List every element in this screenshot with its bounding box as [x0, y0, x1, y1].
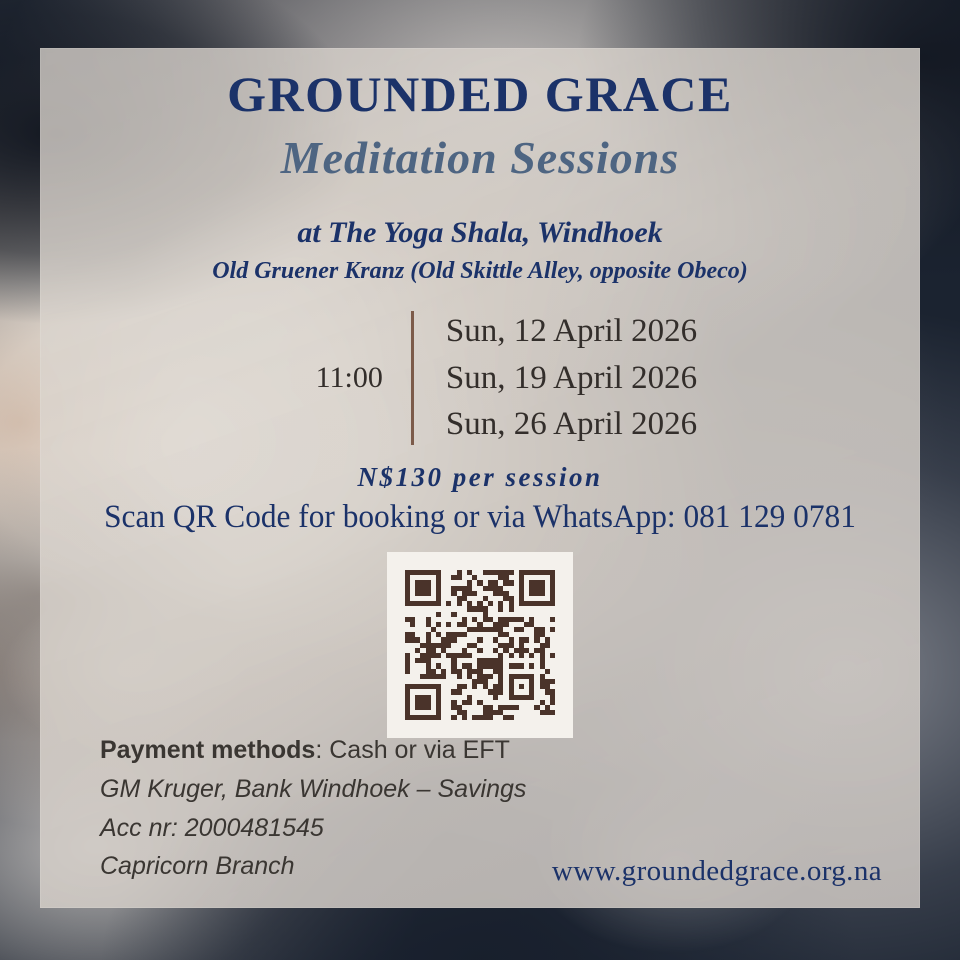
flyer-card: GROUNDED GRACE Meditation Sessions at Th… — [40, 48, 920, 908]
venue-address: Old Gruener Kranz (Old Skittle Alley, op… — [40, 251, 920, 286]
qr-code-modules — [405, 570, 555, 720]
page-subtitle: Meditation Sessions — [40, 122, 920, 185]
qr-code[interactable] — [387, 552, 573, 738]
session-date: Sun, 19 April 2026 — [446, 355, 697, 402]
session-date: Sun, 12 April 2026 — [446, 308, 697, 355]
page-title: GROUNDED GRACE — [40, 48, 920, 122]
session-time: 11:00 — [263, 361, 411, 395]
session-price: N$130 per session — [40, 448, 920, 493]
website-url[interactable]: www.groundedgrace.org.na — [552, 855, 882, 888]
booking-instruction: Scan QR Code for booking or via WhatsApp… — [62, 493, 898, 536]
bank-branch: Capricorn Branch — [100, 847, 526, 886]
venue-name: at The Yoga Shala, Windhoek — [40, 185, 920, 251]
session-dates: Sun, 12 April 2026 Sun, 19 April 2026 Su… — [414, 308, 697, 449]
session-date: Sun, 26 April 2026 — [446, 401, 697, 448]
schedule-block: 11:00 Sun, 12 April 2026 Sun, 19 April 2… — [40, 308, 920, 449]
poster-canvas: GROUNDED GRACE Meditation Sessions at Th… — [0, 0, 960, 960]
bank-account-name: GM Kruger, Bank Windhoek – Savings — [100, 770, 526, 809]
payment-methods-line: Payment methods: Cash or via EFT — [100, 731, 526, 770]
payment-details: Payment methods: Cash or via EFT GM Krug… — [100, 731, 526, 886]
bank-account-number: Acc nr: 2000481545 — [100, 809, 526, 848]
payment-methods-label: Payment methods — [100, 736, 315, 764]
payment-methods-value: : Cash or via EFT — [315, 736, 510, 764]
